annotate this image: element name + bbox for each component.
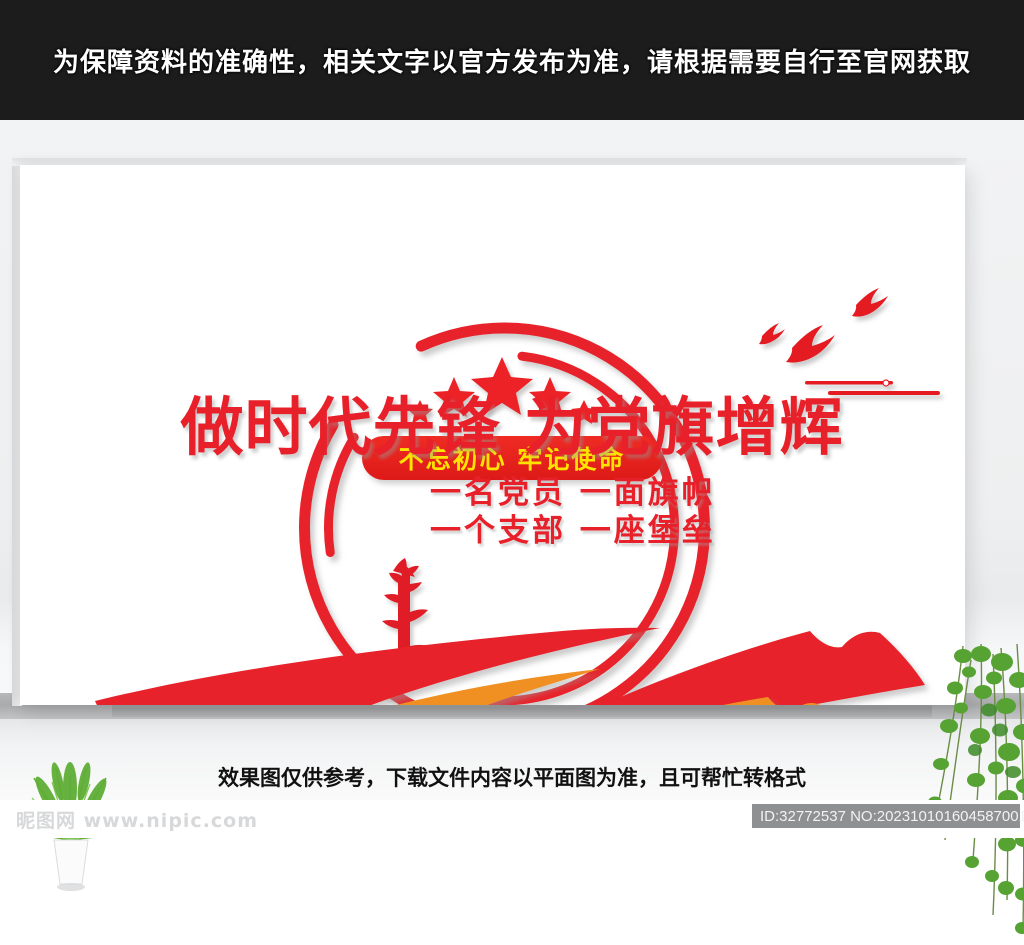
- footer-caption: 效果图仅供参考，下载文件内容以平面图为准，且可帮忙转格式: [0, 762, 1024, 792]
- wall-scene: 不忘初心 牢记使命 做时代先锋 为党旗增辉 一名党员 一面旗帜 一个支部 一座堡…: [0, 120, 1024, 800]
- swallow-group: [759, 288, 888, 363]
- pot-shadow: [57, 883, 85, 891]
- plant-pot: [54, 840, 88, 884]
- ribbon-red-left: [95, 628, 660, 705]
- poster-preview-page: 为保障资料的准确性，相关文字以官方发布为准，请根据需要自行至官网获取: [0, 0, 1024, 838]
- disclaimer-text: 为保障资料的准确性，相关文字以官方发布为准，请根据需要自行至官网获取: [0, 0, 1024, 120]
- swallow-icon-mid: [852, 288, 888, 317]
- poster-subtitle-line2: 一个支部 一座堡垒: [430, 505, 720, 550]
- image-id-badge: ID:32772537 NO:20231010160458700101: [752, 804, 1020, 828]
- poster-headline: 做时代先锋 为党旗增辉: [0, 377, 1024, 468]
- site-watermark: 昵图网 www.nipic.com: [16, 806, 258, 833]
- swallow-icon-small: [759, 323, 785, 344]
- swallow-icon-large: [786, 325, 835, 363]
- disclaimer-banner: 为保障资料的准确性，相关文字以官方发布为准，请根据需要自行至官网获取: [0, 0, 1024, 120]
